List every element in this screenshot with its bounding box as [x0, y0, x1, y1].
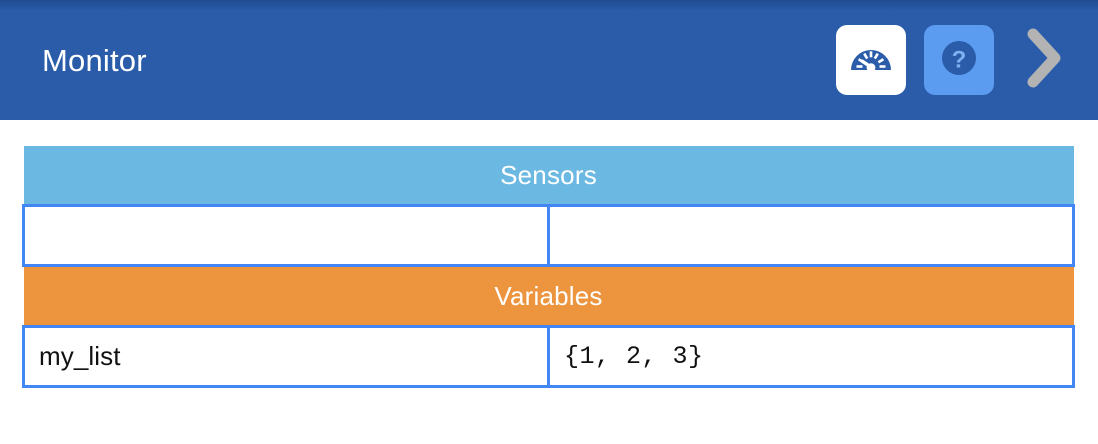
sensor-name-cell[interactable] — [24, 206, 549, 266]
sensor-value-cell[interactable] — [549, 206, 1074, 266]
variable-name-cell[interactable]: my_list — [24, 327, 549, 387]
section-title-sensors: Sensors — [24, 146, 1074, 206]
section-title-variables: Variables — [24, 266, 1074, 327]
table-row[interactable]: my_list {1, 2, 3} — [24, 327, 1074, 387]
question-mark-icon: ? — [937, 36, 981, 85]
table-row[interactable] — [24, 206, 1074, 266]
chevron-right-icon — [1024, 27, 1064, 94]
page-title: Monitor — [42, 45, 147, 76]
monitor-table: Sensors Variables my_list {1, 2, 3} — [22, 146, 1075, 388]
monitor-gauge-button[interactable] — [836, 25, 906, 95]
next-button[interactable] — [1012, 24, 1076, 96]
app-header: Monitor — [0, 0, 1098, 120]
section-header-variables: Variables — [24, 266, 1074, 327]
monitor-table-wrapper: Sensors Variables my_list {1, 2, 3} — [22, 146, 1072, 388]
gauge-icon — [848, 39, 894, 82]
monitor-app: Monitor — [0, 0, 1098, 444]
section-header-sensors: Sensors — [24, 146, 1074, 206]
variable-value-cell[interactable]: {1, 2, 3} — [549, 327, 1074, 387]
help-button[interactable]: ? — [924, 25, 994, 95]
header-actions: ? — [836, 24, 1076, 96]
svg-text:?: ? — [952, 46, 967, 73]
